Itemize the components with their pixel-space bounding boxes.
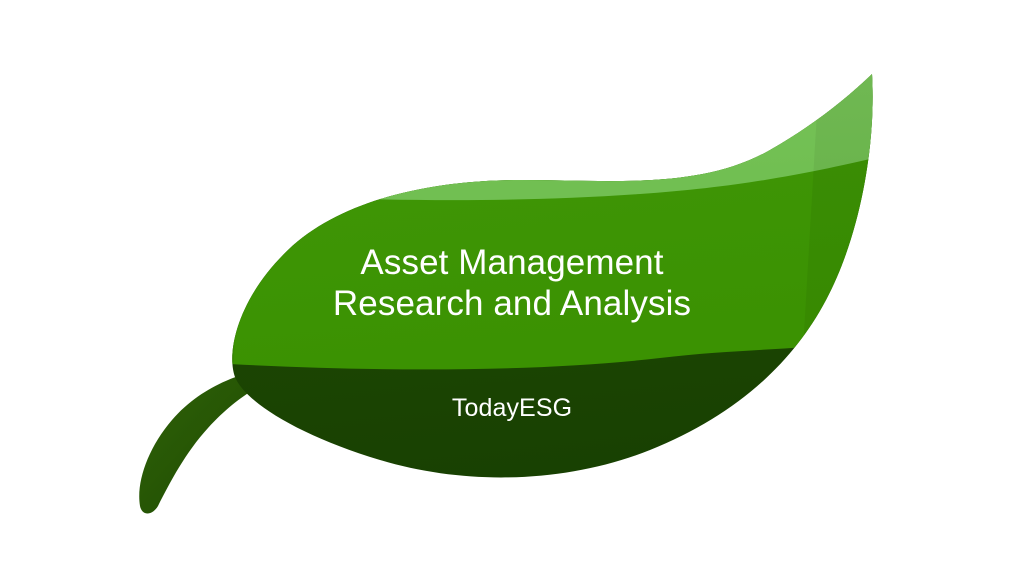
leaf-graphic — [0, 0, 1024, 576]
blade-shadow-left — [180, 150, 234, 400]
slide-canvas: ESG Job Introduction Asset Management Re… — [0, 0, 1024, 576]
blade-highlight-right — [800, 60, 900, 420]
band-light-fill — [180, 0, 900, 200]
leaf-stem-shape — [139, 372, 264, 514]
